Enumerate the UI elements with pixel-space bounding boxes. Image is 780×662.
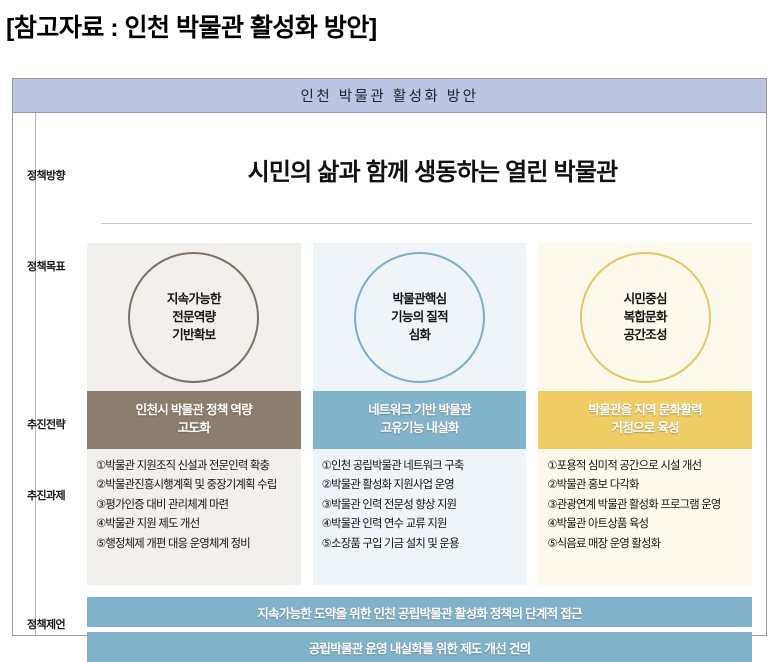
strategy-bar-3-line-2: 거점으로 육성 — [611, 420, 679, 438]
goal-circle-1-line-3: 기반확보 — [172, 326, 215, 344]
diagram-body: 정책방향 정책목표 추진전략 추진과제 정책제언 시민의 삶과 함께 생동하는 … — [13, 113, 766, 635]
diagram-header-title: 인천 박물관 활성화 방안 — [13, 79, 766, 113]
strategy-bar-2-line-2: 고유기능 내실화 — [380, 420, 458, 438]
strategy-bar-2: 네트워크 기반 박물관 고유기능 내실화 — [313, 391, 527, 449]
task-item: ②박물관 홍보 다각화 — [547, 476, 746, 495]
task-item: ①포용적 심미적 공간으로 시설 개선 — [547, 457, 746, 476]
task-item: ③박물관 인력 전문성 향상 지원 — [322, 496, 521, 515]
strategy-bar-3: 박물관을 지역 문화활력 거점으로 육성 — [538, 391, 752, 449]
task-block-3: ①포용적 심미적 공간으로 시설 개선 ②박물관 홍보 다각화 ③관광연계 박물… — [538, 449, 752, 585]
goal-circle-1: 지속가능한 전문역량 기반확보 — [128, 252, 259, 383]
vision-statement: 시민의 삶과 함께 생동하는 열린 박물관 — [113, 143, 752, 195]
task-item: ③관광연계 박물관 활성화 프로그램 운영 — [547, 496, 746, 515]
goal-circle-1-line-1: 지속가능한 — [167, 290, 221, 308]
task-item: ②박물관 활성화 지원사업 운영 — [322, 476, 521, 495]
goal-block-2: 박물관핵심 기능의 질적 심화 — [313, 243, 527, 391]
task-item: ⑤소장품 구입 기금 설치 및 운용 — [322, 535, 521, 554]
row-label-policy-direction: 정책방향 — [27, 167, 113, 183]
task-block-1: ①박물관 지원조직 신설과 전문인력 확충 ②박물관진흥시행계획 및 중장기계획… — [87, 449, 301, 585]
task-item: ①인천 공립박물관 네트워크 구축 — [322, 457, 521, 476]
label-column-divider — [35, 113, 36, 635]
task-item: ⑤식음료 매장 운영 활성화 — [547, 535, 746, 554]
strategy-bar-2-line-1: 네트워크 기반 박물관 — [368, 402, 471, 420]
proposal-bar-1: 지속가능한 도약을 위한 인천 공립박물관 활성화 정책의 단계적 접근 — [87, 597, 752, 627]
goal-block-1: 지속가능한 전문역량 기반확보 — [87, 243, 301, 391]
task-item: ④박물관 지원 제도 개선 — [96, 515, 295, 534]
task-item: ②박물관진흥시행계획 및 중장기계획 수립 — [96, 476, 295, 495]
task-block-2: ①인천 공립박물관 네트워크 구축 ②박물관 활성화 지원사업 운영 ③박물관 … — [313, 449, 527, 585]
column-3: 시민중심 복합문화 공간조성 박물관을 지역 문화활력 거점으로 육성 ①포용적… — [538, 243, 752, 585]
policy-diagram: 인천 박물관 활성화 방안 정책방향 정책목표 추진전략 추진과제 정책제언 시… — [12, 78, 767, 636]
task-item: ④박물관 아트상품 육성 — [547, 515, 746, 534]
goal-circle-2-line-2: 기능의 질적 — [391, 308, 448, 326]
goal-circle-2: 박물관핵심 기능의 질적 심화 — [354, 252, 485, 383]
goal-block-3: 시민중심 복합문화 공간조성 — [538, 243, 752, 391]
strategy-bar-1-line-1: 인천시 박물관 정책 역량 — [136, 402, 252, 420]
column-2: 박물관핵심 기능의 질적 심화 네트워크 기반 박물관 고유기능 내실화 ①인천… — [313, 243, 527, 585]
task-item: ⑤행정체제 개편 대응 운영체계 정비 — [96, 535, 295, 554]
goal-circle-2-line-1: 박물관핵심 — [392, 290, 446, 308]
task-item: ④박물관 인력 연수 교류 지원 — [322, 515, 521, 534]
strategy-bar-3-line-1: 박물관을 지역 문화활력 — [588, 402, 702, 420]
strategy-columns: 지속가능한 전문역량 기반확보 인천시 박물관 정책 역량 고도화 ①박물관 지… — [87, 243, 752, 585]
proposal-bar-2: 공립박물관 운영 내실화를 위한 제도 개선 건의 — [87, 632, 752, 662]
column-1: 지속가능한 전문역량 기반확보 인천시 박물관 정책 역량 고도화 ①박물관 지… — [87, 243, 301, 585]
strategy-bar-1-line-2: 고도화 — [178, 420, 210, 438]
task-item: ③평가인증 대비 관리체계 마련 — [96, 496, 295, 515]
task-list-1: ①박물관 지원조직 신설과 전문인력 확충 ②박물관진흥시행계획 및 중장기계획… — [96, 457, 295, 554]
goal-circle-3-line-2: 복합문화 — [624, 308, 667, 326]
task-list-3: ①포용적 심미적 공간으로 시설 개선 ②박물관 홍보 다각화 ③관광연계 박물… — [547, 457, 746, 554]
task-item: ①박물관 지원조직 신설과 전문인력 확충 — [96, 457, 295, 476]
task-list-2: ①인천 공립박물관 네트워크 구축 ②박물관 활성화 지원사업 운영 ③박물관 … — [322, 457, 521, 554]
vision-divider — [101, 223, 752, 224]
goal-circle-3-line-3: 공간조성 — [624, 326, 667, 344]
goal-circle-1-line-2: 전문역량 — [172, 308, 215, 326]
goal-circle-3: 시민중심 복합문화 공간조성 — [580, 252, 711, 383]
goal-circle-2-line-3: 심화 — [409, 326, 431, 344]
page-title: [참고자료 : 인천 박물관 활성화 방안] — [0, 0, 780, 43]
strategy-bar-1: 인천시 박물관 정책 역량 고도화 — [87, 391, 301, 449]
goal-circle-3-line-1: 시민중심 — [624, 290, 667, 308]
policy-proposals: 지속가능한 도약을 위한 인천 공립박물관 활성화 정책의 단계적 접근 공립박… — [87, 597, 752, 662]
